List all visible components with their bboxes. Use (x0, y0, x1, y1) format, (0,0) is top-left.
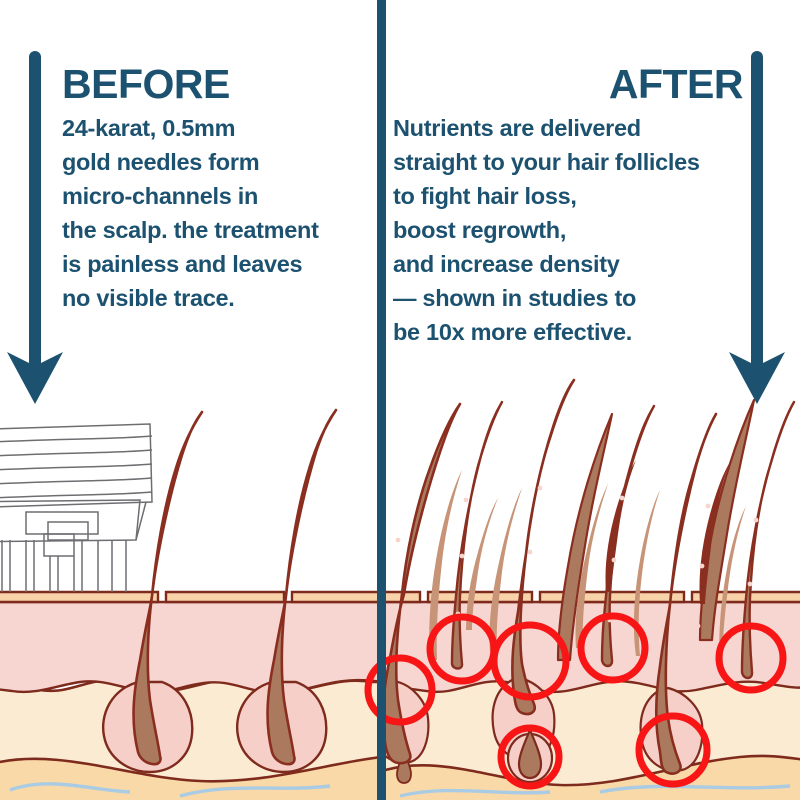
right-epidermis-seg-2 (428, 592, 532, 602)
illustration-canvas (0, 0, 800, 800)
left-epidermis-seg-2 (166, 592, 284, 602)
vertical-divider (377, 0, 386, 800)
left-dermis-layer (0, 602, 390, 693)
infographic-root: BEFORE 24-karat, 0.5mm gold needles form… (0, 0, 800, 800)
left-epidermis-seg-1 (0, 592, 158, 602)
